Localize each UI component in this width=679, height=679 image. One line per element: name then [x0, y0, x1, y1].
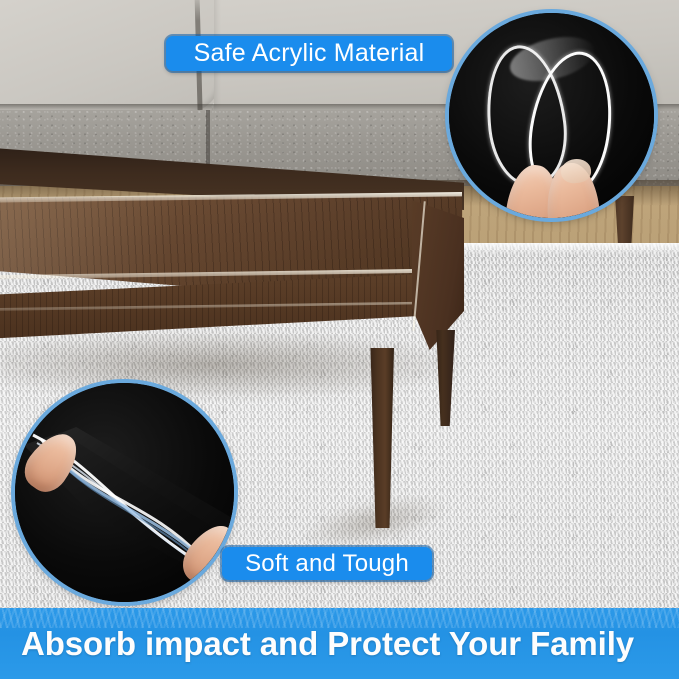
product-marketing-image: Safe Acrylic Material Soft and Tough Abs… — [0, 0, 679, 679]
banner-headline: Absorb impact and Protect Your Family — [21, 625, 634, 663]
bottom-banner: Absorb impact and Protect Your Family — [0, 608, 679, 679]
badge-label: Safe Acrylic Material — [194, 39, 425, 68]
badge-soft-and-tough: Soft and Tough — [222, 547, 432, 580]
badge-safe-acrylic-material: Safe Acrylic Material — [166, 36, 452, 71]
top-right-inset — [449, 13, 654, 218]
bottom-left-inset — [15, 383, 234, 602]
badge-label: Soft and Tough — [245, 550, 409, 578]
